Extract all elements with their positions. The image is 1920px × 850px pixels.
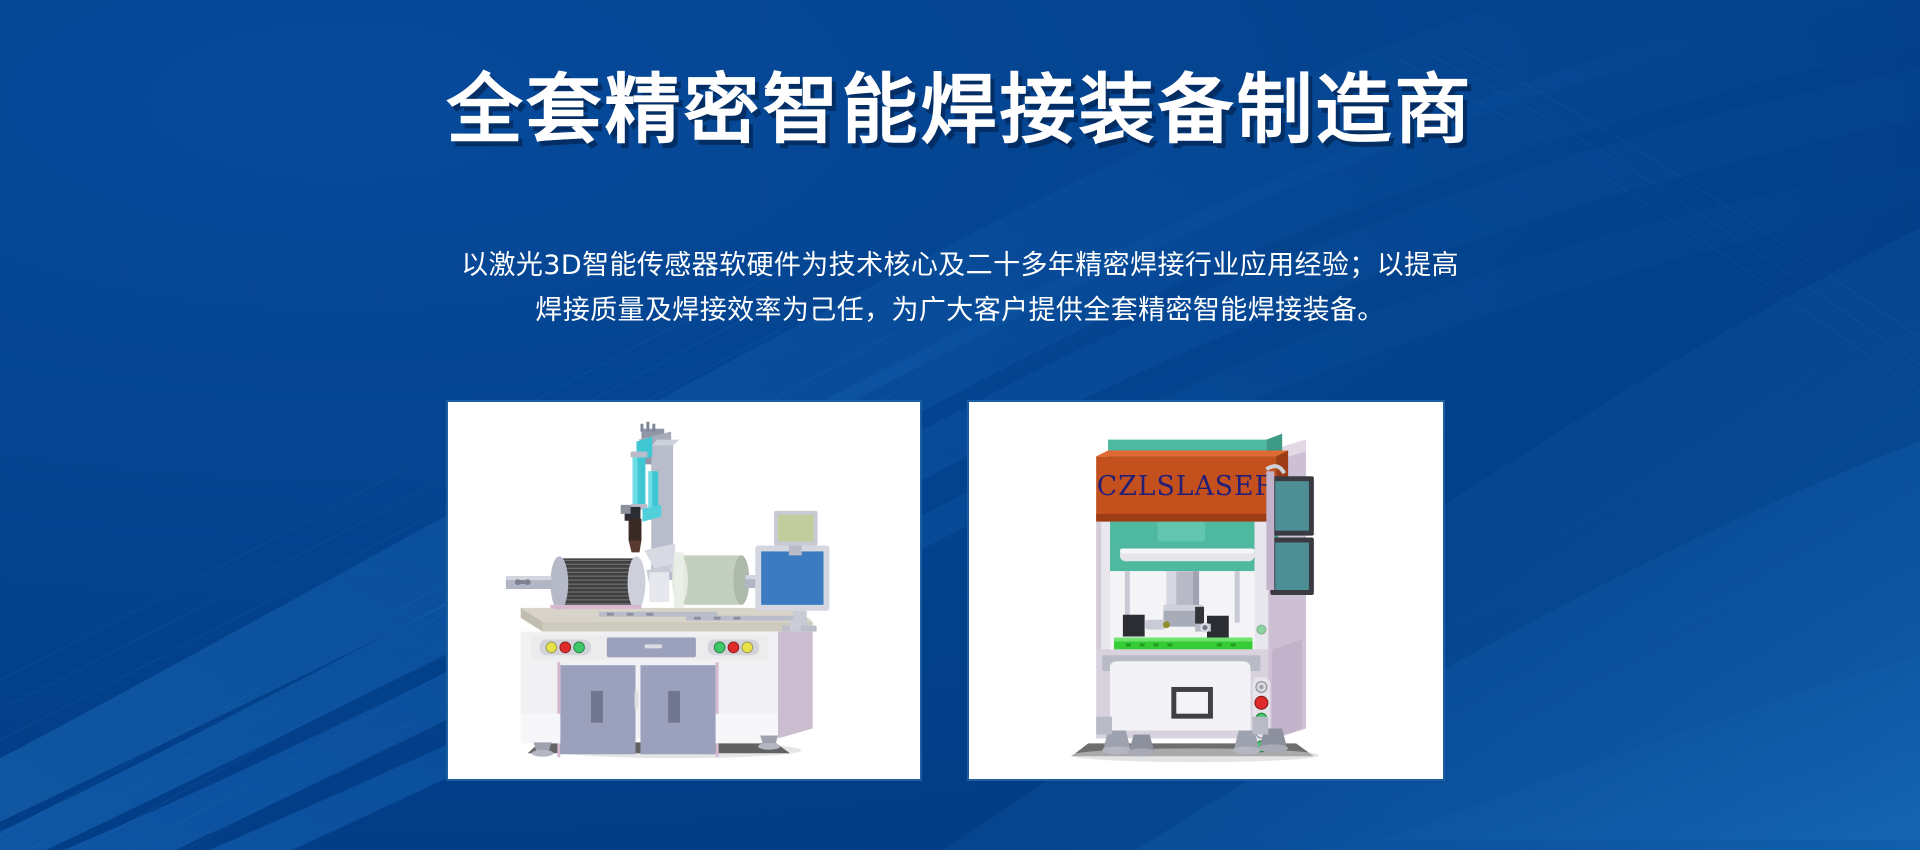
banner-stage: 全套精密智能焊接装备制造商 以激光3D智能传感器软硬件为技术核心及二十多年精密焊… [0,0,1920,850]
brand-logo-text: CZLSLASER [1097,471,1276,502]
page-title: 全套精密智能焊接装备制造商 [0,62,1920,158]
product-image-right-laser-welding-cabinet[interactable]: CZLSLASER [967,400,1445,781]
subtitle-line-2: 焊接质量及焊接效率为己任，为广大客户提供全套精密智能焊接装备。 [395,288,1525,333]
product-illustration-left [448,402,920,779]
subtitle-line-1: 以激光3D智能传感器软硬件为技术核心及二十多年精密焊接行业应用经验；以提高 [395,243,1525,288]
product-illustration-right: CZLSLASER [969,402,1443,779]
page-subtitle: 以激光3D智能传感器软硬件为技术核心及二十多年精密焊接行业应用经验；以提高 焊接… [395,243,1525,333]
product-image-left-laser-welding-workstation[interactable] [446,400,922,781]
